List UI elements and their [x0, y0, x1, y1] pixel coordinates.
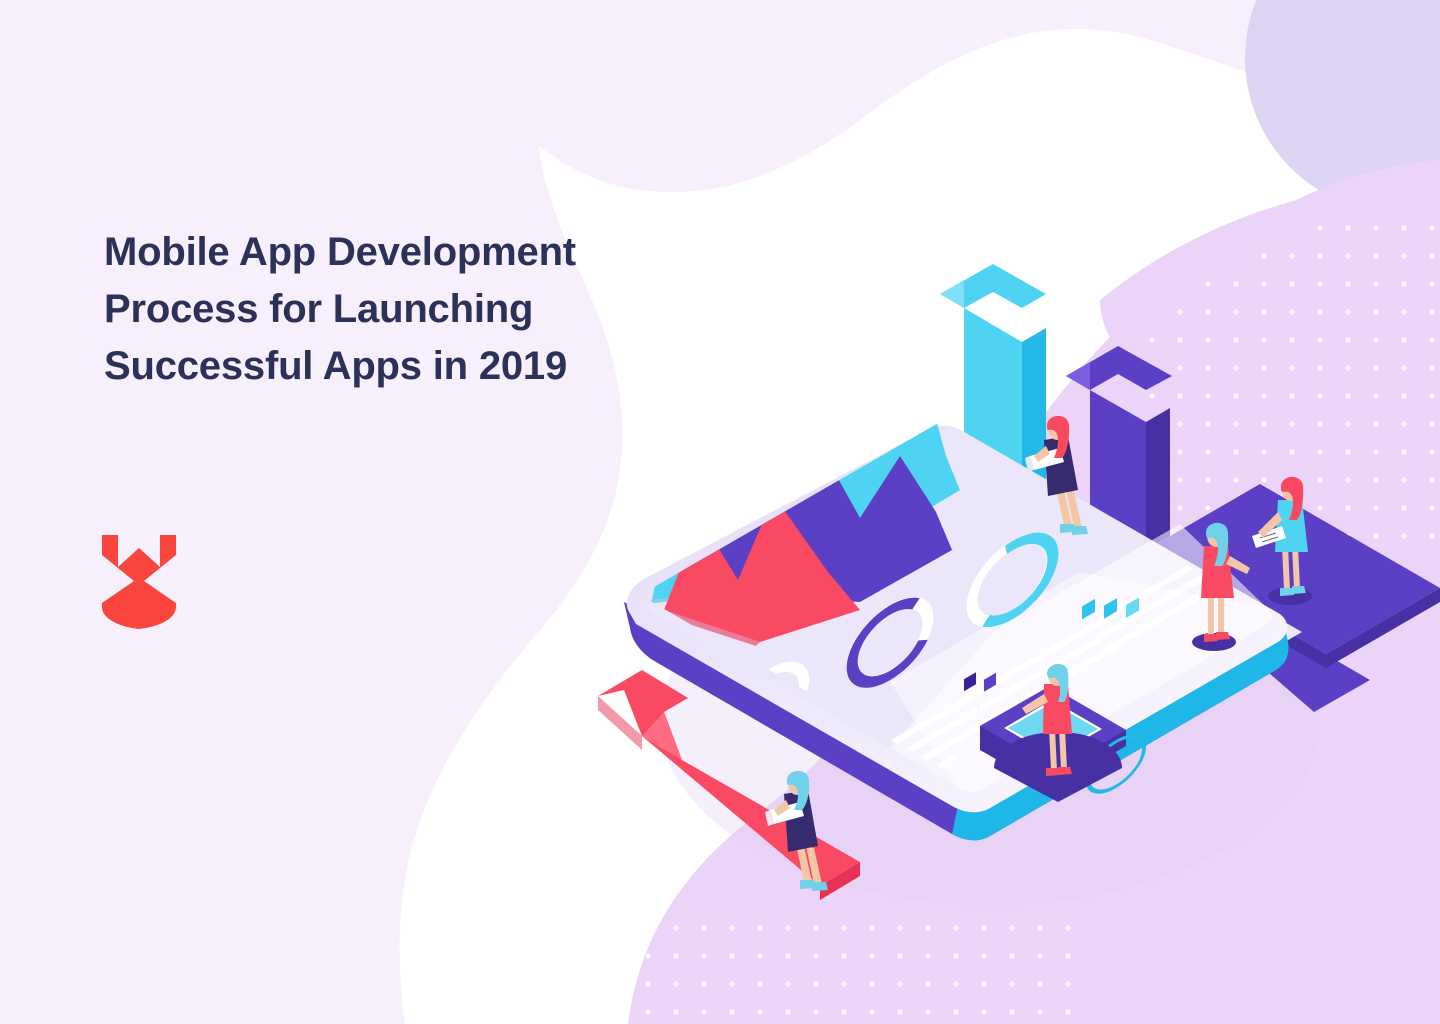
hero-banner: Mobile App Development Process for Launc… [0, 0, 1440, 1024]
ms-monogram-logo[interactable] [100, 533, 178, 629]
isometric-tablet-analytics-scene [560, 250, 1440, 970]
